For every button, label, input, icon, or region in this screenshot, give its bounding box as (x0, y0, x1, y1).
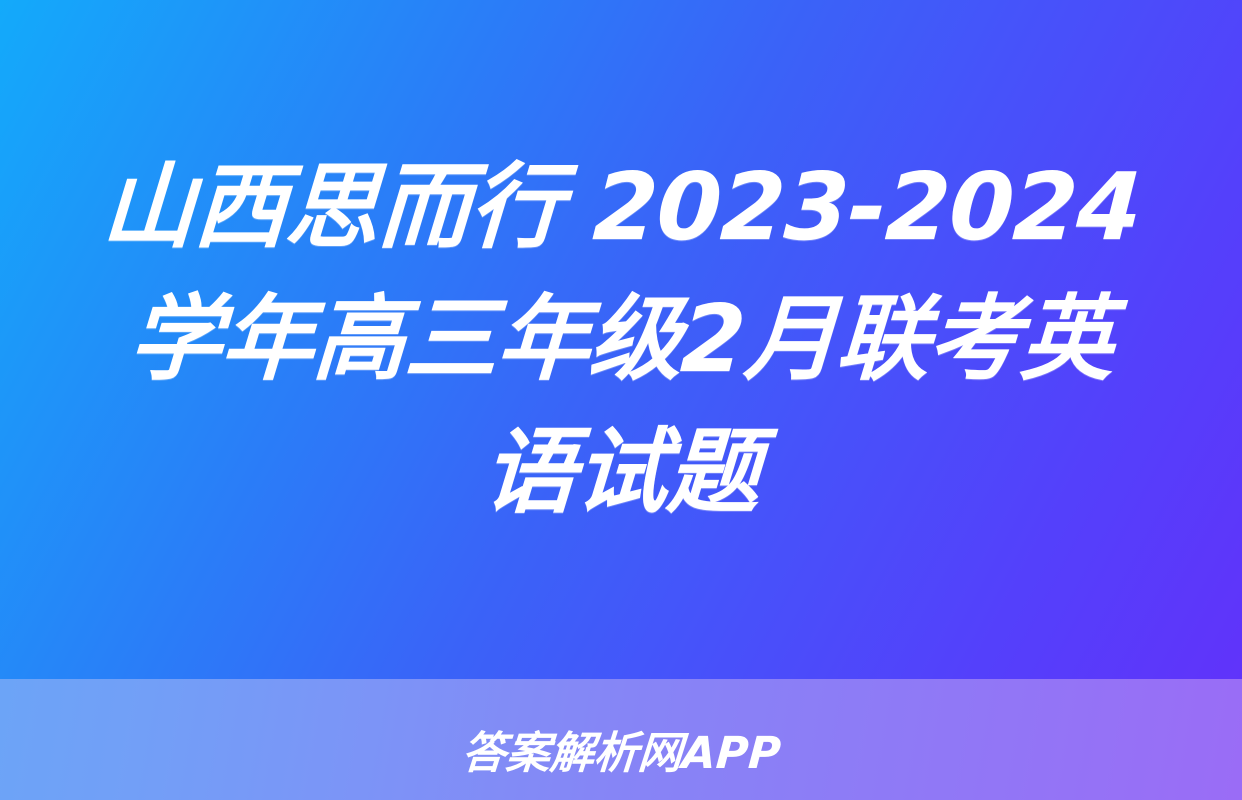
footer-band: 答案解析网APP (0, 679, 1242, 800)
poster-canvas: 山西思而行 2023-2024 学年高三年级2月联考英 语试题 答案解析网APP (0, 0, 1242, 800)
title-line-2: 学年高三年级2月联考英 (126, 273, 1117, 405)
title-block: 山西思而行 2023-2024 学年高三年级2月联考英 语试题 (0, 0, 1242, 679)
title-line-3: 语试题 (480, 406, 763, 538)
app-watermark: 答案解析网APP (460, 732, 782, 776)
title-line-1: 山西思而行 2023-2024 (98, 141, 1144, 273)
